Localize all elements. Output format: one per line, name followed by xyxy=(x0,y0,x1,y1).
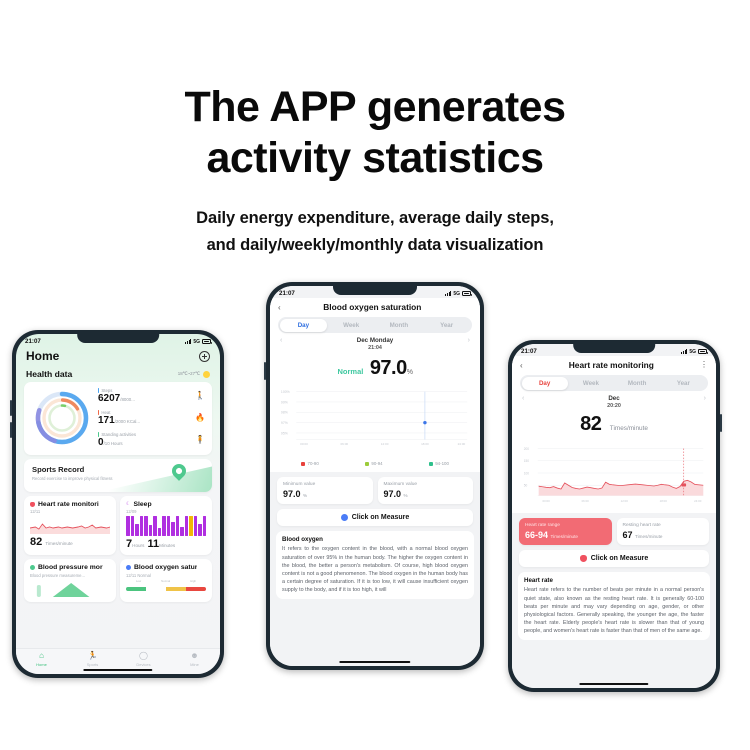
home-icon: ⌂ xyxy=(16,652,67,660)
network-label: 5G xyxy=(453,291,460,297)
page-title-line1: The APP generates xyxy=(184,83,565,131)
spo2-time: 21:04 xyxy=(270,345,480,351)
tab-day[interactable]: Day xyxy=(280,319,328,332)
moon-icon: ☾ xyxy=(126,501,130,507)
spo2-maximum-value: 97.0 % xyxy=(384,489,468,499)
tab-month[interactable]: Month xyxy=(614,377,660,390)
home-indicator xyxy=(339,661,410,664)
svg-text:98%: 98% xyxy=(281,411,288,415)
hr-range-value: 66-94 Times/minute xyxy=(525,530,606,540)
volume-button[interactable] xyxy=(264,362,266,380)
prev-date-button[interactable]: ‹ xyxy=(280,337,282,344)
kebab-menu-icon[interactable]: ⋮ xyxy=(700,363,708,367)
power-button[interactable] xyxy=(720,414,722,432)
svg-text:95%: 95% xyxy=(281,431,288,435)
signal-icon xyxy=(185,339,191,344)
status-time: 21:07 xyxy=(279,290,295,297)
svg-text:50: 50 xyxy=(524,484,528,488)
sleep-bar-chart xyxy=(126,516,206,536)
battery-icon xyxy=(202,339,211,344)
metric-steps[interactable]: Steps 6207/8000... 🚶 xyxy=(98,388,205,405)
card-blood-pressure-title: Blood pressure mor xyxy=(38,564,103,571)
plus-circle-icon[interactable] xyxy=(199,351,210,362)
svg-text:06:00: 06:00 xyxy=(582,499,590,503)
svg-text:12:00: 12:00 xyxy=(381,442,389,446)
nav-item-sports[interactable]: 🏃 Sports xyxy=(67,652,118,667)
page-title: The APP generates activity statistics xyxy=(0,82,750,183)
spo2-label-high: High xyxy=(190,579,196,583)
spo2-maximum-card: Maximum value 97.0 % xyxy=(378,477,474,504)
status-time: 21:07 xyxy=(521,348,537,355)
home-header: Home xyxy=(16,346,220,365)
card-heart-rate-header: Heart rate monitori xyxy=(30,501,110,508)
phones-row: 21:07 5G Home Health data 18℃~27℃ xyxy=(0,282,750,712)
home-cards-grid: Heart rate monitori 12/11 82 Times/minut… xyxy=(24,496,212,602)
svg-text:18:00: 18:00 xyxy=(421,442,429,446)
legend-item-0: 70-90 xyxy=(301,461,319,466)
svg-text:00:00: 00:00 xyxy=(300,442,308,446)
svg-text:99%: 99% xyxy=(281,400,288,404)
svg-text:150: 150 xyxy=(524,459,529,463)
next-date-button[interactable]: › xyxy=(468,337,470,344)
standing-icon: 🧍 xyxy=(195,436,205,444)
devices-icon: ◯ xyxy=(118,652,169,660)
svg-text:200: 200 xyxy=(524,447,529,451)
tab-week[interactable]: Week xyxy=(568,377,614,390)
spo2-top-panel: Day Week Month Year ‹ Dec Monday › 21:04 xyxy=(270,317,480,355)
card-heart-rate-date: 12/11 xyxy=(30,509,110,514)
hr-range-label: Heart rate range xyxy=(525,523,606,529)
walking-icon: 🚶 xyxy=(195,392,205,400)
sports-icon: 🏃 xyxy=(67,652,118,660)
network-label: 5G xyxy=(689,349,696,355)
spo2-reading-panel: Normal 97.0% xyxy=(270,355,480,472)
spo2-date-nav: ‹ Dec Monday › xyxy=(270,333,480,345)
hr-nav-bar: ‹ Heart rate monitoring ⋮ xyxy=(512,356,716,375)
heart-rate-screen: 21:07 5G ‹ Heart rate monitoring ⋮ Day xyxy=(512,344,716,688)
heart-icon xyxy=(580,555,587,562)
location-pin-icon xyxy=(172,464,186,482)
activity-rings-chart xyxy=(31,390,93,446)
metric-standing[interactable]: Standing activities 0/10 Hours 🧍 xyxy=(98,432,205,449)
svg-text:100: 100 xyxy=(524,471,529,475)
card-heart-rate[interactable]: Heart rate monitori 12/11 82 Times/minut… xyxy=(24,496,116,556)
notch xyxy=(573,344,655,353)
spo2-page-title: Blood oxygen saturation xyxy=(281,302,464,312)
tab-year[interactable]: Year xyxy=(660,377,706,390)
nav-item-devices[interactable]: ◯ Devices xyxy=(118,652,169,667)
hr-measure-button[interactable]: Click on Measure xyxy=(519,550,709,567)
volume-down-button[interactable] xyxy=(10,422,12,438)
hr-period-tabs: Day Week Month Year xyxy=(520,375,708,391)
spo2-status-badge: Normal xyxy=(338,367,364,376)
spo2-maximum-label: Maximum value xyxy=(384,482,468,488)
hr-resting-value: 67 Times/minute xyxy=(623,530,704,540)
svg-text:12:00: 12:00 xyxy=(621,499,629,503)
spo2-reading: Normal 97.0% xyxy=(270,355,480,383)
spo2-date: Dec Monday xyxy=(357,337,393,344)
spo2-chart[interactable]: 100% 99% 98% 97% 95% 00:00 06:00 xyxy=(276,383,474,456)
spo2-minimum-value: 97.0 % xyxy=(283,489,367,499)
bp-dot-icon xyxy=(30,565,35,570)
page-subtitle-line2: and daily/weekly/monthly data visualizat… xyxy=(207,236,544,254)
card-blood-oxygen[interactable]: Blood oxygen satur 12/11 Normal Low Norm… xyxy=(120,559,212,602)
hr-article: Heart rate Heart rate refers to the numb… xyxy=(518,572,710,640)
blood-oxygen-screen: 21:07 5G ‹ Blood oxygen saturation Day xyxy=(270,286,480,666)
hr-date-nav: ‹ Dec › xyxy=(512,391,716,403)
hr-unit: Times/minute xyxy=(610,425,648,432)
battery-icon xyxy=(698,349,707,354)
nav-label-mine: Mine xyxy=(169,662,220,667)
card-heart-rate-value: 82 Times/minute xyxy=(30,536,110,548)
phone-right: 21:07 5G ‹ Heart rate monitoring ⋮ Day xyxy=(508,340,720,692)
card-sleep-title: Sleep xyxy=(133,501,151,508)
page-subtitle: Daily energy expenditure, average daily … xyxy=(0,205,750,258)
home-indicator xyxy=(83,669,152,672)
nav-item-mine[interactable]: ☻ Mine xyxy=(169,652,220,667)
metric-steps-value: 6207/8000... xyxy=(98,393,192,405)
signal-icon xyxy=(445,291,451,296)
battery-icon xyxy=(462,291,471,296)
hr-reading: 82 Times/minute xyxy=(512,412,716,438)
phone-right-screen: 21:07 5G ‹ Heart rate monitoring ⋮ Day xyxy=(512,344,716,688)
spo2-label-low: Low xyxy=(136,579,141,583)
tab-week[interactable]: Week xyxy=(327,319,375,332)
card-blood-pressure-sub: Blood pressure measureme... xyxy=(30,573,110,578)
card-sleep[interactable]: ☾ Sleep 12/09 7Hours xyxy=(120,496,212,556)
svg-text:24:00: 24:00 xyxy=(694,499,702,503)
spo2-measure-icon xyxy=(341,514,348,521)
hr-page-title: Heart rate monitoring xyxy=(523,360,700,370)
card-blood-oxygen-header: Blood oxygen satur xyxy=(126,564,206,571)
card-sleep-header: ☾ Sleep xyxy=(126,501,206,508)
spo2-measure-button[interactable]: Click on Measure xyxy=(277,509,473,526)
notch xyxy=(333,286,417,295)
weather-info: 18℃~27℃ xyxy=(178,371,210,378)
spo2-label-normal: Normal xyxy=(161,579,170,583)
card-blood-pressure[interactable]: Blood pressure mor Blood pressure measur… xyxy=(24,559,116,602)
hr-summary-cards: Heart rate range 66-94 Times/minute Rest… xyxy=(519,518,709,545)
spo2-nav-bar: ‹ Blood oxygen saturation xyxy=(270,298,480,317)
nav-label-sports: Sports xyxy=(67,662,118,667)
heart-rate-sparkline xyxy=(30,516,110,534)
hr-resting-label: Resting heart rate xyxy=(623,523,704,529)
spo2-range-bar xyxy=(126,587,206,591)
spo2-article-title: Blood oxygen xyxy=(282,536,468,543)
health-data-section-header: Health data 18℃~27℃ xyxy=(16,365,220,382)
tab-month[interactable]: Month xyxy=(375,319,423,332)
home-title: Home xyxy=(26,349,59,363)
heart-icon xyxy=(30,502,35,507)
legend-item-2: 94-100 xyxy=(429,461,449,466)
spo2-dot-icon xyxy=(126,565,131,570)
hr-measure-label: Click on Measure xyxy=(591,555,649,562)
hr-range-card: Heart rate range 66-94 Times/minute xyxy=(519,518,612,545)
card-heart-rate-title: Heart rate monitori xyxy=(38,501,99,508)
phone-left: 21:07 5G Home Health data 18℃~27℃ xyxy=(12,330,224,678)
metric-heat[interactable]: Heat 171/2000 KCal... 🔥 xyxy=(98,410,205,427)
hr-value: 82 xyxy=(580,413,601,435)
metric-heat-value: 171/2000 KCal... xyxy=(98,415,192,427)
hr-resting-card: Resting heart rate 67 Times/minute xyxy=(617,518,710,545)
activity-rings-card[interactable]: Steps 6207/8000... 🚶 xyxy=(24,382,212,455)
spo2-minimum-card: Minimum value 97.0 % xyxy=(277,477,373,504)
nav-item-home[interactable]: ⌂ Home xyxy=(16,652,67,667)
spo2-range-labels: Low Normal High xyxy=(126,579,206,583)
card-blood-pressure-header: Blood pressure mor xyxy=(30,564,110,571)
tab-day[interactable]: Day xyxy=(522,377,568,390)
status-indicators: 5G xyxy=(185,339,211,345)
hr-date: Dec xyxy=(608,395,619,402)
hr-article-title: Heart rate xyxy=(524,577,704,584)
svg-text:97%: 97% xyxy=(281,421,288,425)
spo2-minimum-label: Minimum value xyxy=(283,482,367,488)
weather-temp: 18℃~27℃ xyxy=(178,371,200,377)
status-indicators: 5G xyxy=(445,291,471,297)
tab-year[interactable]: Year xyxy=(423,319,471,332)
hr-time: 20:20 xyxy=(512,403,716,409)
card-sleep-date: 12/09 xyxy=(126,509,206,514)
spo2-legend: 70-90 90-94 94-100 xyxy=(270,456,480,470)
person-icon: ☻ xyxy=(169,652,220,660)
notch xyxy=(77,334,159,343)
hr-reading-panel: 82 Times/minute xyxy=(512,412,716,513)
signal-icon xyxy=(681,349,687,354)
metrics-list: Steps 6207/8000... 🚶 xyxy=(98,388,205,449)
hr-article-body: Heart rate refers to the number of beats… xyxy=(524,586,704,635)
phone-center: 21:07 5G ‹ Blood oxygen saturation Day xyxy=(266,282,484,670)
headline-block: The APP generates activity statistics Da… xyxy=(0,0,750,259)
svg-text:06:00: 06:00 xyxy=(340,442,348,446)
hr-chart[interactable]: 200 150 100 50 00:00 06:00 xyxy=(518,438,710,513)
svg-text:24:00: 24:00 xyxy=(458,442,466,446)
svg-text:18:00: 18:00 xyxy=(660,499,668,503)
volume-up-button[interactable] xyxy=(10,400,12,416)
svg-text:100%: 100% xyxy=(281,390,290,394)
flame-icon: 🔥 xyxy=(195,414,205,422)
next-date-button[interactable]: › xyxy=(704,395,706,402)
spo2-minmax: Minimum value 97.0 % Maximum value 97.0 … xyxy=(277,477,473,504)
sun-icon xyxy=(203,371,210,378)
spo2-period-tabs: Day Week Month Year xyxy=(278,317,472,333)
status-indicators: 5G xyxy=(681,349,707,355)
hr-top-panel: Day Week Month Year ‹ Dec › 20:20 xyxy=(512,375,716,412)
home-screen: 21:07 5G Home Health data 18℃~27℃ xyxy=(16,334,220,674)
health-data-title: Health data xyxy=(26,369,72,379)
nav-label-home: Home xyxy=(16,662,67,667)
status-time: 21:07 xyxy=(25,338,41,345)
spo2-article-body: It refers to the oxygen content in the b… xyxy=(282,545,468,594)
spo2-measure-label: Click on Measure xyxy=(352,514,410,521)
phone-center-screen: 21:07 5G ‹ Blood oxygen saturation Day xyxy=(270,286,480,666)
card-blood-oxygen-sub: 12/11 Normal xyxy=(126,573,206,578)
sports-record-card[interactable]: Sports Record Record exercise to improve… xyxy=(24,459,212,492)
prev-date-button[interactable]: ‹ xyxy=(522,395,524,402)
svg-text:00:00: 00:00 xyxy=(543,499,551,503)
legend-item-1: 90-94 xyxy=(365,461,383,466)
bp-illustration xyxy=(30,581,110,597)
spo2-value: 97.0% xyxy=(370,357,413,379)
card-sleep-value: 7Hours 11Minutes xyxy=(126,538,206,550)
phone-left-screen: 21:07 5G Home Health data 18℃~27℃ xyxy=(16,334,220,674)
home-indicator xyxy=(579,683,648,686)
page-title-line2: activity statistics xyxy=(206,134,543,182)
network-label: 5G xyxy=(193,339,200,345)
page-subtitle-line1: Daily energy expenditure, average daily … xyxy=(196,209,554,227)
metric-standing-value: 0/10 Hours xyxy=(98,437,192,449)
spo2-article: Blood oxygen It refers to the oxygen con… xyxy=(276,531,474,599)
card-blood-oxygen-title: Blood oxygen satur xyxy=(134,564,197,571)
nav-label-devices: Devices xyxy=(118,662,169,667)
